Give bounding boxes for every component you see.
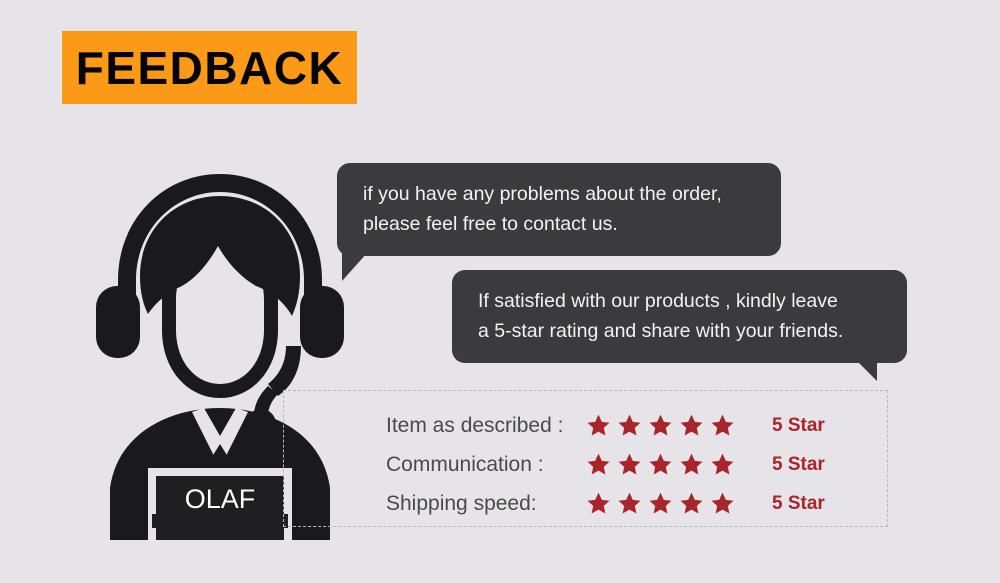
rating-value: 5 Star xyxy=(772,455,825,474)
star-icon xyxy=(586,452,611,477)
rating-stars xyxy=(586,491,754,516)
rating-row: Shipping speed: 5 Star xyxy=(386,484,856,523)
rating-label: Shipping speed: xyxy=(386,493,586,514)
speech-bubble-contact-tail xyxy=(342,243,376,281)
star-icon xyxy=(617,452,642,477)
star-icon xyxy=(617,491,642,516)
rating-value: 5 Star xyxy=(772,494,825,513)
rating-row: Item as described : 5 Star xyxy=(386,406,856,445)
star-icon xyxy=(586,491,611,516)
rating-value: 5 Star xyxy=(772,416,825,435)
feedback-banner-image: FEEDBACK xyxy=(0,0,1000,583)
rating-label: Item as described : xyxy=(386,415,586,436)
rating-stars xyxy=(586,413,754,438)
speech-bubble-rating: If satisfied with our products , kindly … xyxy=(452,270,907,363)
star-icon xyxy=(648,491,673,516)
star-icon xyxy=(648,413,673,438)
star-icon xyxy=(710,452,735,477)
speech-bubble-rating-text: If satisfied with our products , kindly … xyxy=(478,286,885,346)
banner-title: FEEDBACK xyxy=(76,45,344,91)
star-icon xyxy=(710,491,735,516)
rating-row: Communication : 5 Star xyxy=(386,445,856,484)
star-icon xyxy=(710,413,735,438)
feedback-banner: FEEDBACK xyxy=(62,31,357,104)
star-icon xyxy=(679,452,704,477)
rating-label: Communication : xyxy=(386,454,586,475)
rating-stars xyxy=(586,452,754,477)
laptop-screen-label: OLAF xyxy=(185,484,256,514)
speech-bubble-contact-text: if you have any problems about the order… xyxy=(363,179,759,239)
star-icon xyxy=(679,413,704,438)
star-icon xyxy=(617,413,642,438)
star-icon xyxy=(586,413,611,438)
star-icon xyxy=(648,452,673,477)
speech-bubble-rating-tail xyxy=(845,349,877,381)
speech-bubble-contact: if you have any problems about the order… xyxy=(337,163,781,256)
star-icon xyxy=(679,491,704,516)
ratings-list: Item as described : 5 Star Communication… xyxy=(386,406,856,523)
